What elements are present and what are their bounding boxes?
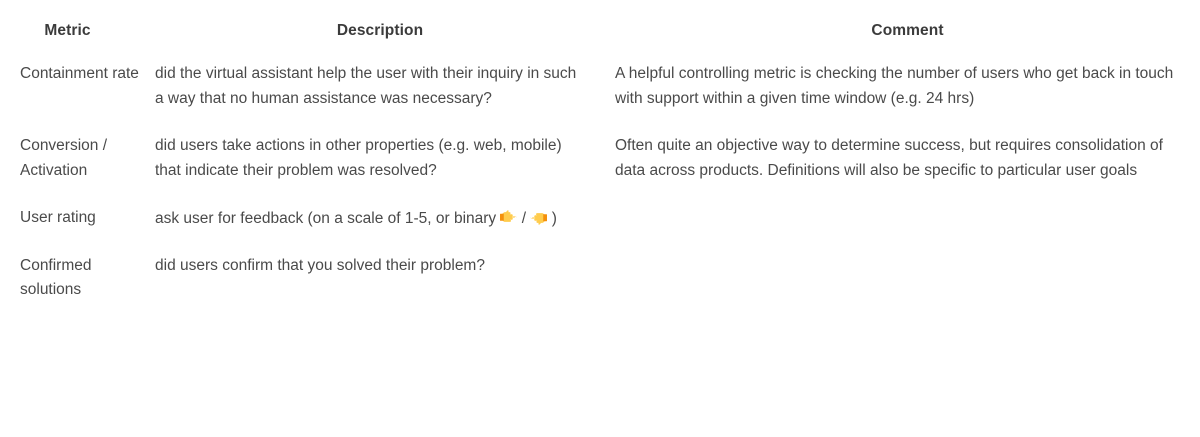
- column-header-comment: Comment: [605, 0, 1200, 62]
- cell-description: ask user for feedback (on a scale of 1-5…: [155, 206, 605, 254]
- description-text-prefix: ask user for feedback (on a scale of 1-5…: [155, 210, 500, 227]
- cell-comment: [605, 206, 1200, 254]
- thumbs-down-icon: [530, 209, 547, 227]
- description-text-suffix: ): [547, 210, 556, 227]
- cell-description: did users take actions in other properti…: [155, 134, 605, 206]
- metrics-table: Metric Description Comment Containment r…: [0, 0, 1200, 325]
- column-header-description: Description: [155, 0, 605, 62]
- cell-metric: Confirmed solutions: [0, 254, 155, 325]
- cell-metric: User rating: [0, 206, 155, 254]
- table-row: Confirmed solutions did users confirm th…: [0, 254, 1200, 325]
- table-row: User rating ask user for feedback (on a …: [0, 206, 1200, 254]
- cell-comment: A helpful controlling metric is checking…: [605, 62, 1200, 134]
- cell-comment: Often quite an objective way to determin…: [605, 134, 1200, 206]
- table-row: Containment rate did the virtual assista…: [0, 62, 1200, 134]
- table-header-row: Metric Description Comment: [0, 0, 1200, 62]
- description-separator: /: [517, 210, 530, 227]
- cell-metric: Conversion / Activation: [0, 134, 155, 206]
- thumbs-up-icon: [500, 209, 517, 227]
- column-header-metric: Metric: [0, 0, 155, 62]
- cell-description: did the virtual assistant help the user …: [155, 62, 605, 134]
- table-header: Metric Description Comment: [0, 0, 1200, 62]
- table-body: Containment rate did the virtual assista…: [0, 62, 1200, 325]
- cell-comment: [605, 254, 1200, 325]
- table-row: Conversion / Activation did users take a…: [0, 134, 1200, 206]
- cell-description: did users confirm that you solved their …: [155, 254, 605, 325]
- cell-metric: Containment rate: [0, 62, 155, 134]
